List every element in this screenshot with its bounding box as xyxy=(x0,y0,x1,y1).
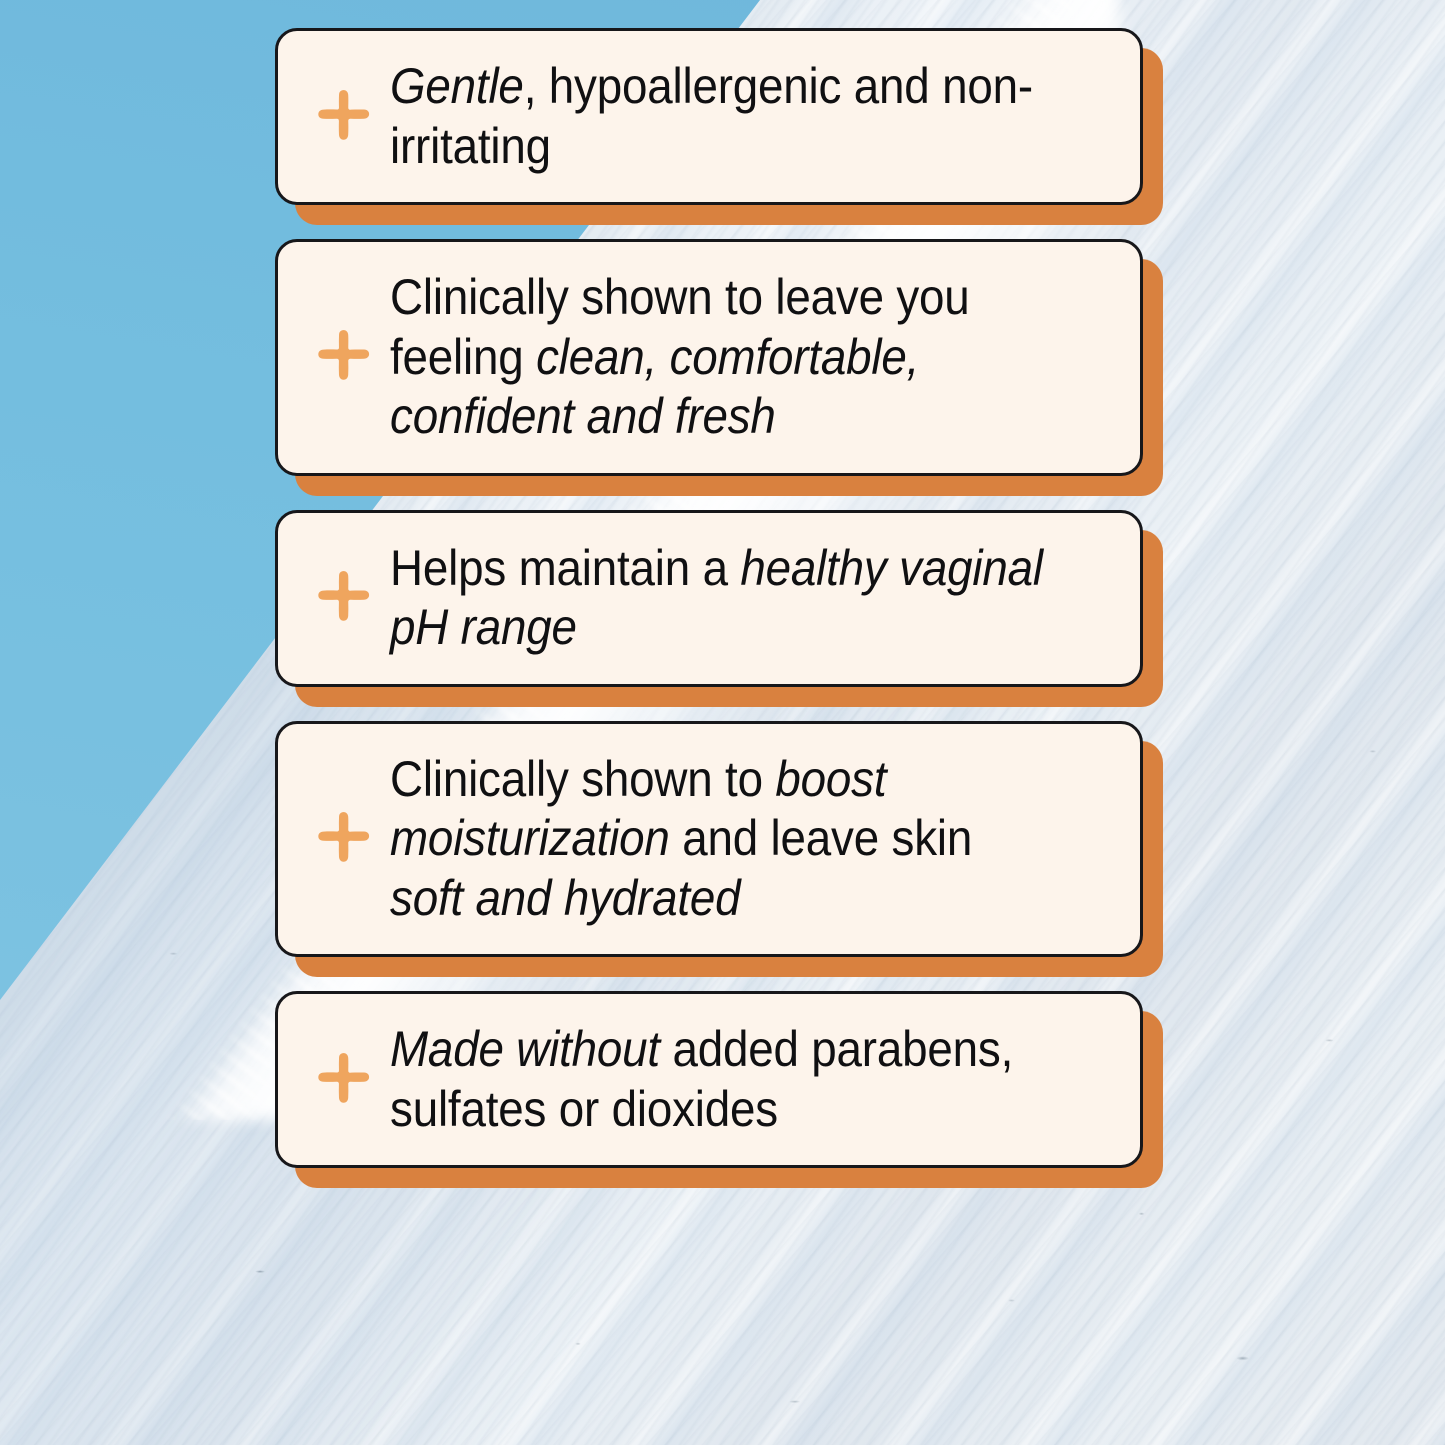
plus-icon xyxy=(312,567,374,629)
benefit-text-segment: Clinically shown to xyxy=(390,751,775,807)
benefit-text-segment: and leave skin xyxy=(670,810,972,866)
plus-icon xyxy=(312,808,374,870)
plus-icon xyxy=(312,86,374,148)
benefit-text: Clinically shown to leave you feeling cl… xyxy=(390,268,1049,447)
benefit-text: Made without added parabens, sulfates or… xyxy=(390,1020,1049,1139)
benefit-card-clinically-shown-clean: Clinically shown to leave you feeling cl… xyxy=(275,239,1143,476)
benefit-card-boost-moisturization: Clinically shown to boost moisturization… xyxy=(275,721,1143,958)
benefit-text: Helps maintain a healthy vaginal pH rang… xyxy=(390,539,1049,658)
benefit-card-gentle-hypoallergenic: Gentle, hypoallergenic and non-irritatin… xyxy=(275,28,1143,205)
benefit-text-segment: Gentle xyxy=(390,58,524,114)
benefit-text-segment: soft and hydrated xyxy=(390,870,740,926)
benefit-card-list: Gentle, hypoallergenic and non-irritatin… xyxy=(275,28,1165,1202)
benefit-text: Clinically shown to boost moisturization… xyxy=(390,750,1049,929)
benefit-text-segment: Made without xyxy=(390,1021,660,1077)
benefit-text-segment: Helps maintain a xyxy=(390,540,740,596)
benefit-card-made-without: Made without added parabens, sulfates or… xyxy=(275,991,1143,1168)
plus-icon xyxy=(312,326,374,388)
plus-icon xyxy=(312,1049,374,1111)
benefit-text: Gentle, hypoallergenic and non-irritatin… xyxy=(390,57,1049,176)
benefit-card-healthy-ph-range: Helps maintain a healthy vaginal pH rang… xyxy=(275,510,1143,687)
